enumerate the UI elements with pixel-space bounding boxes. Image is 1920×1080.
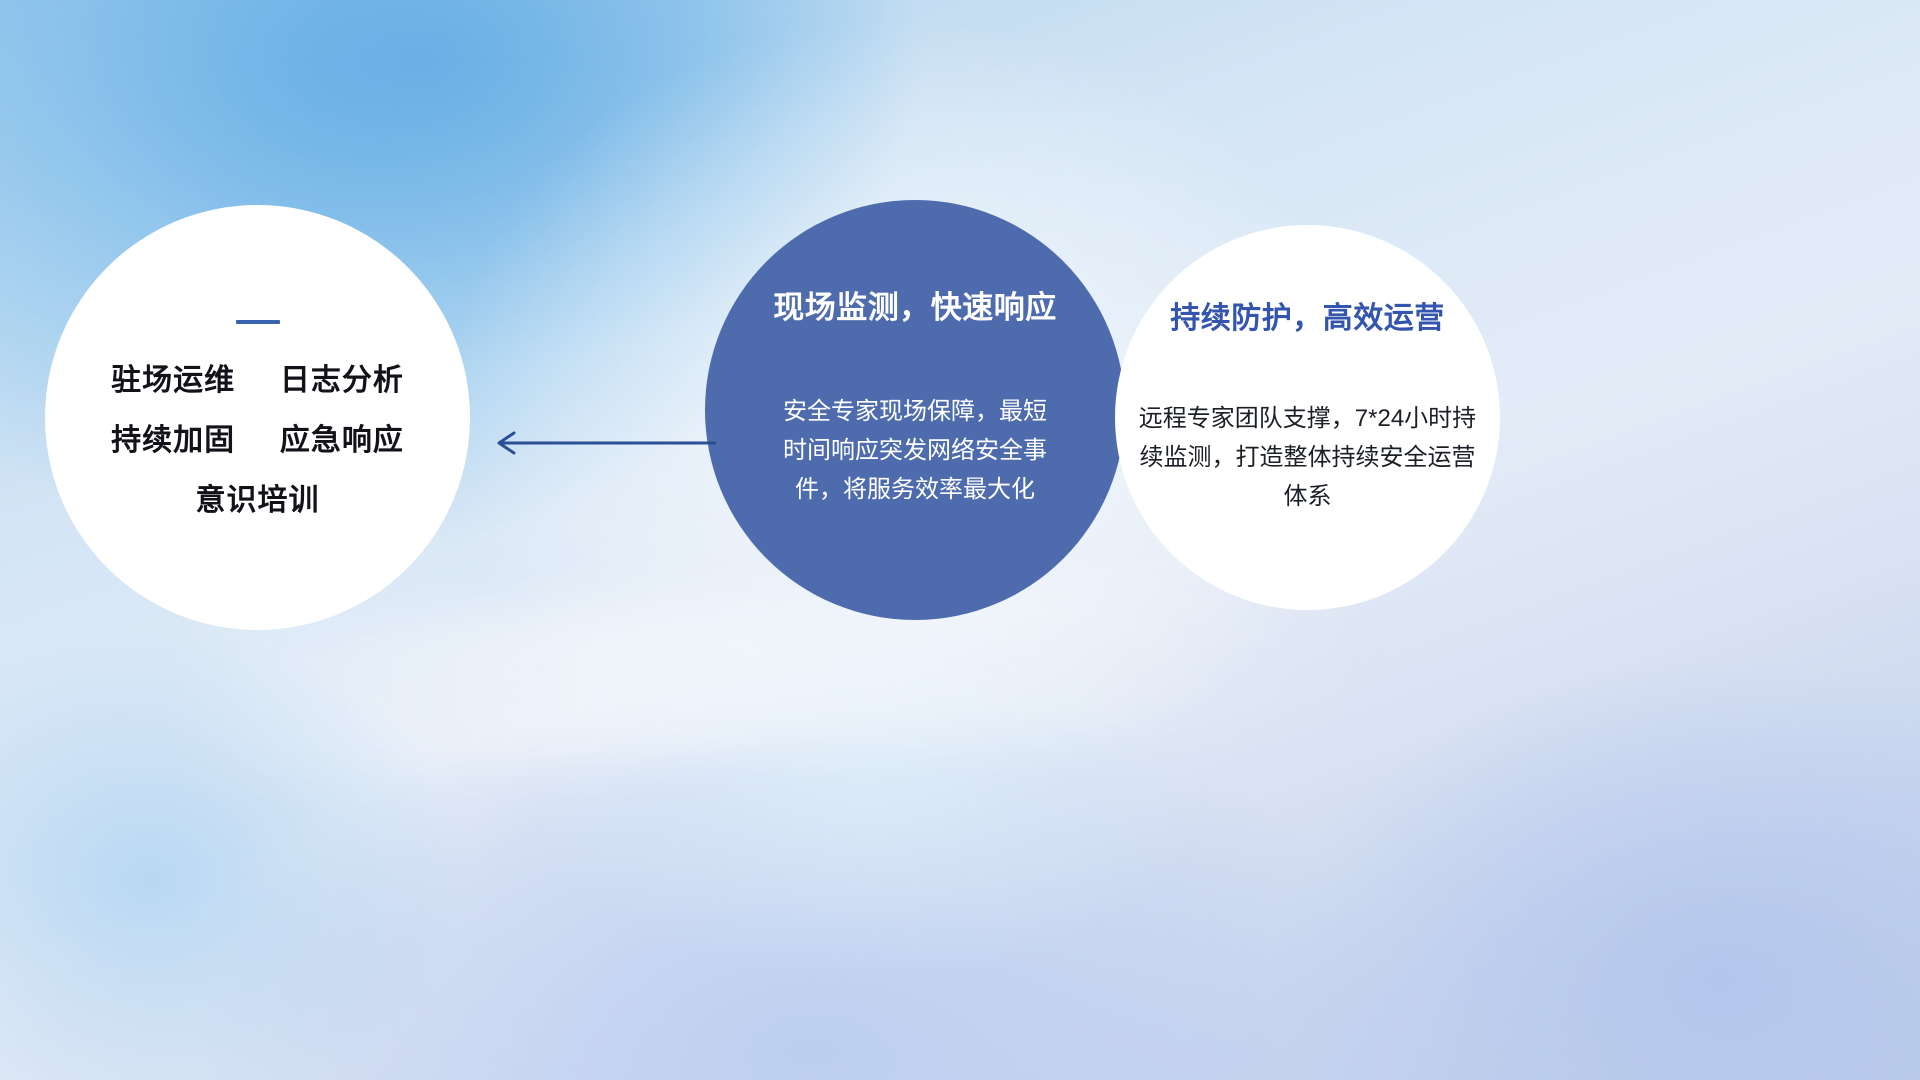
capability-row-1: 驻场运维 日志分析 [111,366,404,396]
service-capability-circle: 驻场运维 日志分析 持续加固 应急响应 意识培训 [45,205,470,630]
onsite-monitoring-circle: 现场监测，快速响应 安全专家现场保障，最短时间响应突发网络安全事件，将服务效率最… [705,200,1125,620]
capability-row-2: 持续加固 应急响应 [111,426,404,456]
arrow-left-icon [488,425,718,461]
capability-tag-onsite-ops: 驻场运维 [111,364,235,397]
capability-tag-continuous-hardening: 持续加固 [111,424,235,457]
capability-tag-log-analysis: 日志分析 [280,364,404,397]
capability-tag-awareness-training: 意识培训 [196,484,320,517]
continuous-protection-circle: 持续防护，高效运营 远程专家团队支撑，7*24小时持续监测，打造整体持续安全运营… [1115,225,1500,610]
continuous-protection-title: 持续防护，高效运营 [1170,293,1445,337]
capability-row-3: 意识培训 [196,486,320,516]
onsite-monitoring-description: 安全专家现场保障，最短时间响应突发网络安全事件，将服务效率最大化 [775,393,1055,510]
capability-tag-emergency-response: 应急响应 [280,424,404,457]
continuous-protection-description: 远程专家团队支撑，7*24小时持续监测，打造整体持续安全运营体系 [1138,400,1478,517]
dash-divider-icon [236,320,280,324]
onsite-monitoring-title: 现场监测，快速响应 [773,282,1057,327]
